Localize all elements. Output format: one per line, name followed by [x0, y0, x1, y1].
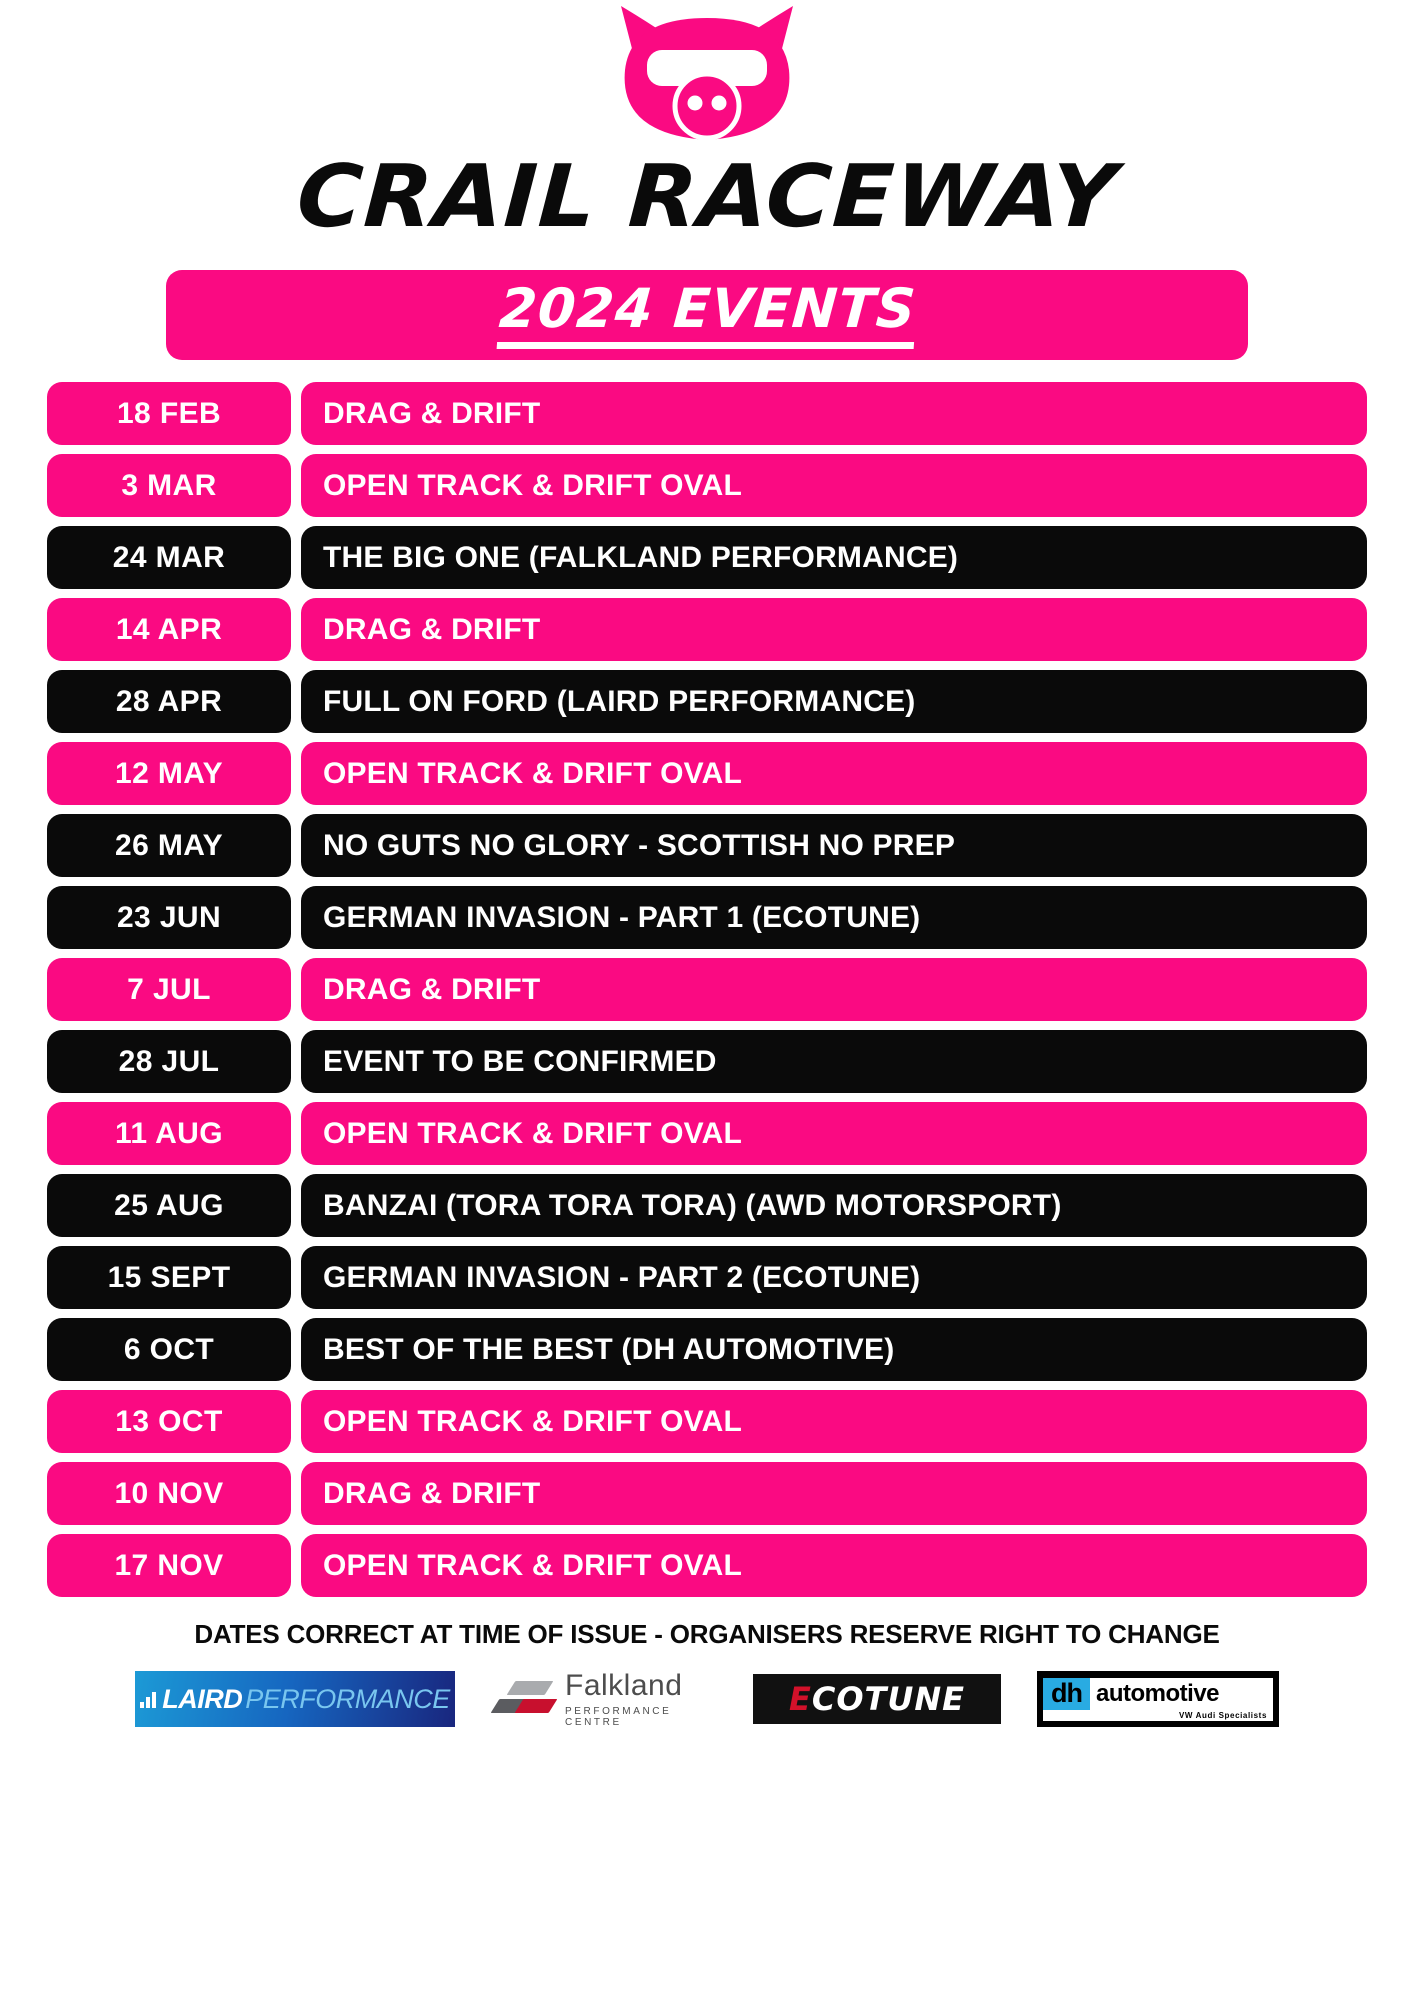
event-row: 14 APRDRAG & DRIFT — [47, 598, 1367, 661]
event-row: 28 JULEVENT TO BE CONFIRMED — [47, 1030, 1367, 1093]
event-date-pill: 12 MAY — [47, 742, 291, 805]
sponsor-laird-performance: LAIRD PERFORMANCE — [135, 1671, 455, 1727]
event-name-pill: DRAG & DRIFT — [301, 382, 1367, 445]
pig-head-icon — [607, 2, 807, 148]
event-row: 10 NOVDRAG & DRIFT — [47, 1462, 1367, 1525]
sponsor-dh-automotive: dh automotive VW Audi Specialists — [1037, 1671, 1279, 1727]
event-name-label: OPEN TRACK & DRIFT OVAL — [323, 469, 742, 503]
event-date-pill: 25 AUG — [47, 1174, 291, 1237]
event-row: 11 AUGOPEN TRACK & DRIFT OVAL — [47, 1102, 1367, 1165]
event-date-pill: 11 AUG — [47, 1102, 291, 1165]
event-name-pill: GERMAN INVASION - PART 1 (ECOTUNE) — [301, 886, 1367, 949]
event-date-pill: 26 MAY — [47, 814, 291, 877]
dh-subtitle: VW Audi Specialists — [1043, 1710, 1273, 1721]
sponsor-ecotune: E COTUNE — [753, 1674, 1001, 1724]
event-name-label: OPEN TRACK & DRIFT OVAL — [323, 1549, 742, 1583]
event-name-label: DRAG & DRIFT — [323, 613, 540, 647]
ecotune-name-rest: COTUNE — [812, 1680, 965, 1718]
event-row: 24 MARTHE BIG ONE (FALKLAND PERFORMANCE) — [47, 526, 1367, 589]
event-row: 12 MAYOPEN TRACK & DRIFT OVAL — [47, 742, 1367, 805]
event-name-pill: DRAG & DRIFT — [301, 1462, 1367, 1525]
poster: CRAIL RACEWAY 2024 EVENTS 18 FEBDRAG & D… — [0, 0, 1414, 2000]
event-date-label: 3 MAR — [121, 469, 216, 503]
event-row: 18 FEBDRAG & DRIFT — [47, 382, 1367, 445]
event-row: 17 NOVOPEN TRACK & DRIFT OVAL — [47, 1534, 1367, 1597]
event-date-label: 7 JUL — [127, 973, 211, 1007]
event-date-pill: 10 NOV — [47, 1462, 291, 1525]
event-date-label: 10 NOV — [114, 1477, 223, 1511]
laird-name-light: PERFORMANCE — [245, 1684, 450, 1715]
event-name-label: GERMAN INVASION - PART 2 (ECOTUNE) — [323, 1261, 920, 1295]
event-date-label: 28 JUL — [119, 1045, 220, 1079]
dh-name-accent: dh — [1043, 1678, 1090, 1710]
event-date-pill: 24 MAR — [47, 526, 291, 589]
event-date-pill: 23 JUN — [47, 886, 291, 949]
event-name-pill: OPEN TRACK & DRIFT OVAL — [301, 1534, 1367, 1597]
event-row: 26 MAYNO GUTS NO GLORY - SCOTTISH NO PRE… — [47, 814, 1367, 877]
event-name-pill: OPEN TRACK & DRIFT OVAL — [301, 742, 1367, 805]
event-name-pill: DRAG & DRIFT — [301, 598, 1367, 661]
event-name-pill: OPEN TRACK & DRIFT OVAL — [301, 1390, 1367, 1453]
event-name-pill: THE BIG ONE (FALKLAND PERFORMANCE) — [301, 526, 1367, 589]
event-name-label: DRAG & DRIFT — [323, 1477, 540, 1511]
event-row: 23 JUNGERMAN INVASION - PART 1 (ECOTUNE) — [47, 886, 1367, 949]
event-row: 6 OCTBEST OF THE BEST (DH AUTOMOTIVE) — [47, 1318, 1367, 1381]
event-name-label: GERMAN INVASION - PART 1 (ECOTUNE) — [323, 901, 920, 935]
event-date-pill: 7 JUL — [47, 958, 291, 1021]
event-name-pill: BEST OF THE BEST (DH AUTOMOTIVE) — [301, 1318, 1367, 1381]
event-name-label: OPEN TRACK & DRIFT OVAL — [323, 1117, 742, 1151]
event-date-pill: 28 APR — [47, 670, 291, 733]
event-date-label: 26 MAY — [115, 829, 223, 863]
event-row: 3 MAROPEN TRACK & DRIFT OVAL — [47, 454, 1367, 517]
page-title: CRAIL RACEWAY — [295, 154, 1120, 240]
event-name-label: DRAG & DRIFT — [323, 397, 540, 431]
event-name-label: THE BIG ONE (FALKLAND PERFORMANCE) — [323, 541, 958, 575]
event-name-label: BEST OF THE BEST (DH AUTOMOTIVE) — [323, 1333, 894, 1367]
event-date-pill: 15 SEPT — [47, 1246, 291, 1309]
event-name-label: OPEN TRACK & DRIFT OVAL — [323, 1405, 742, 1439]
event-date-label: 18 FEB — [117, 397, 221, 431]
event-row: 13 OCTOPEN TRACK & DRIFT OVAL — [47, 1390, 1367, 1453]
event-name-pill: DRAG & DRIFT — [301, 958, 1367, 1021]
falkland-subtitle: PERFORMANCE CENTRE — [565, 1706, 717, 1728]
event-row: 15 SEPTGERMAN INVASION - PART 2 (ECOTUNE… — [47, 1246, 1367, 1309]
sponsor-logos: LAIRD PERFORMANCE Falkland PERFORMANCE C… — [42, 1668, 1372, 1730]
falkland-name: Falkland — [565, 1671, 717, 1701]
event-name-label: FULL ON FORD (LAIRD PERFORMANCE) — [323, 685, 915, 719]
event-date-label: 14 APR — [116, 613, 222, 647]
event-name-label: OPEN TRACK & DRIFT OVAL — [323, 757, 742, 791]
crail-raceway-logo — [0, 2, 1414, 148]
sponsor-falkland-performance-centre: Falkland PERFORMANCE CENTRE — [491, 1668, 717, 1730]
event-date-label: 24 MAR — [113, 541, 225, 575]
event-date-pill: 13 OCT — [47, 1390, 291, 1453]
disclaimer-text: DATES CORRECT AT TIME OF ISSUE - ORGANIS… — [194, 1619, 1219, 1650]
event-date-pill: 14 APR — [47, 598, 291, 661]
dh-name-rest: automotive — [1090, 1678, 1273, 1710]
event-name-pill: OPEN TRACK & DRIFT OVAL — [301, 454, 1367, 517]
event-name-pill: OPEN TRACK & DRIFT OVAL — [301, 1102, 1367, 1165]
event-date-pill: 18 FEB — [47, 382, 291, 445]
event-name-label: EVENT TO BE CONFIRMED — [323, 1045, 717, 1079]
event-date-label: 23 JUN — [117, 901, 221, 935]
event-row: 7 JULDRAG & DRIFT — [47, 958, 1367, 1021]
event-name-pill: BANZAI (TORA TORA TORA) (AWD MOTORSPORT) — [301, 1174, 1367, 1237]
event-date-label: 25 AUG — [114, 1189, 224, 1223]
event-date-label: 13 OCT — [115, 1405, 222, 1439]
event-date-label: 28 APR — [116, 685, 222, 719]
event-name-pill: NO GUTS NO GLORY - SCOTTISH NO PREP — [301, 814, 1367, 877]
event-name-pill: GERMAN INVASION - PART 2 (ECOTUNE) — [301, 1246, 1367, 1309]
event-row: 28 APRFULL ON FORD (LAIRD PERFORMANCE) — [47, 670, 1367, 733]
event-date-label: 17 NOV — [114, 1549, 223, 1583]
ecotune-name-accent: E — [789, 1680, 812, 1718]
event-row: 25 AUGBANZAI (TORA TORA TORA) (AWD MOTOR… — [47, 1174, 1367, 1237]
event-date-pill: 17 NOV — [47, 1534, 291, 1597]
event-name-label: NO GUTS NO GLORY - SCOTTISH NO PREP — [323, 829, 955, 863]
year-banner-label: 2024 EVENTS — [496, 281, 917, 349]
events-list: 18 FEBDRAG & DRIFT3 MAROPEN TRACK & DRIF… — [47, 382, 1367, 1597]
bar-chart-icon — [140, 1690, 156, 1708]
event-date-pill: 6 OCT — [47, 1318, 291, 1381]
event-date-label: 6 OCT — [124, 1333, 214, 1367]
event-date-label: 11 AUG — [115, 1117, 223, 1151]
laird-name-bold: LAIRD — [162, 1684, 242, 1715]
year-banner: 2024 EVENTS — [166, 270, 1248, 360]
event-name-pill: FULL ON FORD (LAIRD PERFORMANCE) — [301, 670, 1367, 733]
falkland-chevron-icon — [491, 1677, 557, 1721]
event-date-label: 12 MAY — [115, 757, 223, 791]
event-date-pill: 28 JUL — [47, 1030, 291, 1093]
event-date-label: 15 SEPT — [108, 1261, 231, 1295]
event-name-pill: EVENT TO BE CONFIRMED — [301, 1030, 1367, 1093]
event-name-label: BANZAI (TORA TORA TORA) (AWD MOTORSPORT) — [323, 1189, 1062, 1223]
event-date-pill: 3 MAR — [47, 454, 291, 517]
event-name-label: DRAG & DRIFT — [323, 973, 540, 1007]
